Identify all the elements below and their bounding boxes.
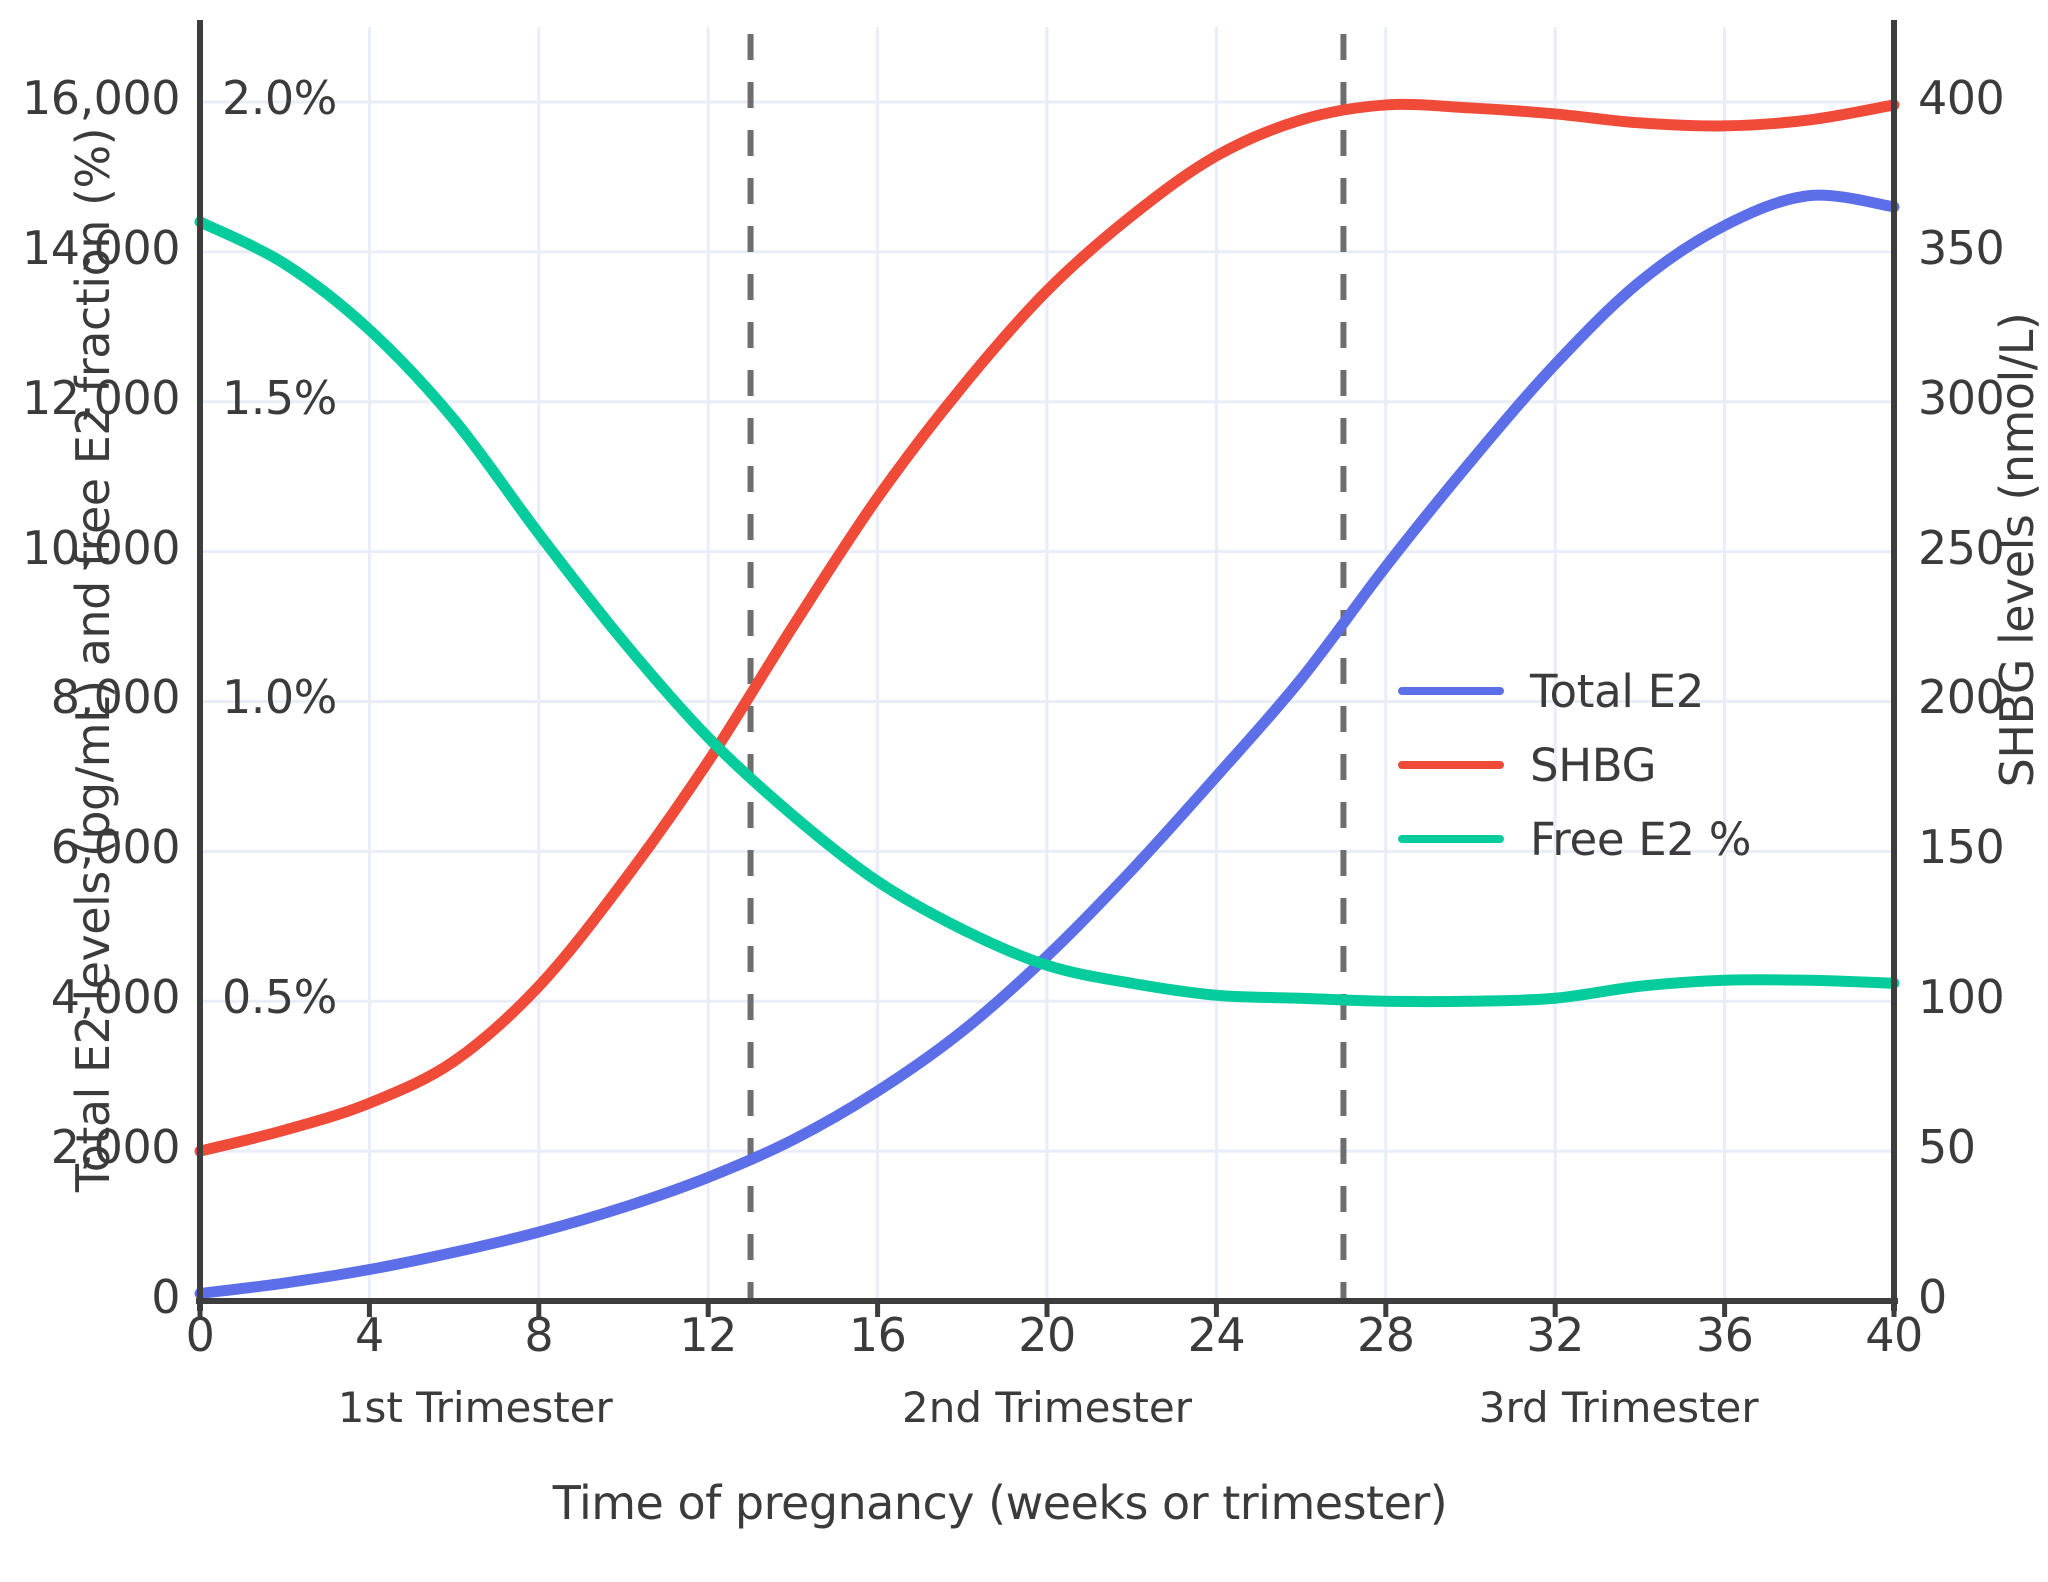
- y-axis-right-tick-label: 350: [1918, 221, 2048, 275]
- legend-swatch-total-e2: [1398, 687, 1504, 695]
- y-axis-right-tick-label: 400: [1918, 71, 2048, 125]
- x-axis-tick-label: 12: [638, 1308, 778, 1362]
- y-axis-right-tick-label: 150: [1918, 820, 2048, 874]
- free-e2-percent-annotation: 2.0%: [222, 71, 337, 125]
- x-axis-tick-label: 4: [299, 1308, 439, 1362]
- y-axis-left-tick-label: 16,000: [0, 71, 180, 125]
- x-axis-tick-label: 36: [1655, 1308, 1795, 1362]
- y-axis-left-tick-label: 6,000: [0, 820, 180, 874]
- chart-figure: Total E2 levels (pg/mL) and free E2 frac…: [0, 0, 2048, 1582]
- free-e2-percent-annotation: 0.5%: [222, 970, 337, 1024]
- x-axis-tick-label: 20: [977, 1308, 1117, 1362]
- y-axis-right-tick-label: 100: [1918, 970, 2048, 1024]
- y-axis-right-tick-label: 200: [1918, 670, 2048, 724]
- y-axis-right-tick-label: 300: [1918, 371, 2048, 425]
- legend-swatch-shbg: [1398, 761, 1504, 769]
- y-axis-left-tick-label: 2,000: [0, 1120, 180, 1174]
- x-axis-tick-label: 24: [1146, 1308, 1286, 1362]
- y-axis-left-tick-label: 14,000: [0, 221, 180, 275]
- free-e2-percent-annotation: 1.0%: [222, 670, 337, 724]
- y-axis-left-title: Total E2 levels (pg/mL) and free E2 frac…: [62, 10, 124, 1310]
- legend-item-shbg[interactable]: SHBG: [1398, 728, 1838, 802]
- y-axis-right-tick-label: 50: [1918, 1120, 2048, 1174]
- x-axis-tick-label: 8: [469, 1308, 609, 1362]
- chart-legend: Total E2 SHBG Free E2 %: [1398, 654, 1838, 876]
- legend-swatch-free-e2: [1398, 835, 1504, 843]
- legend-label-free-e2: Free E2 %: [1530, 813, 1751, 866]
- y-axis-left-tick-label: 12,000: [0, 371, 180, 425]
- free-e2-percent-annotation: 1.5%: [222, 371, 337, 425]
- trimester-band-label: 1st Trimester: [265, 1383, 685, 1432]
- trimester-band-label: 2nd Trimester: [837, 1383, 1257, 1432]
- x-axis-title: Time of pregnancy (weeks or trimester): [200, 1476, 1800, 1530]
- legend-item-free-e2[interactable]: Free E2 %: [1398, 802, 1838, 876]
- x-axis-tick-label: 28: [1316, 1308, 1456, 1362]
- legend-label-shbg: SHBG: [1530, 739, 1656, 792]
- trimester-band-label: 3rd Trimester: [1409, 1383, 1829, 1432]
- legend-item-total-e2[interactable]: Total E2: [1398, 654, 1838, 728]
- y-axis-right-tick-label: 250: [1918, 521, 2048, 575]
- y-axis-left-tick-label: 4,000: [0, 970, 180, 1024]
- x-axis-tick-label: 32: [1485, 1308, 1625, 1362]
- x-axis-tick-label: 16: [808, 1308, 948, 1362]
- y-axis-left-tick-label: 8,000: [0, 670, 180, 724]
- legend-label-total-e2: Total E2: [1530, 665, 1704, 718]
- x-axis-tick-label: 0: [130, 1308, 270, 1362]
- x-axis-tick-label: 40: [1824, 1308, 1964, 1362]
- y-axis-left-tick-label: 10,000: [0, 521, 180, 575]
